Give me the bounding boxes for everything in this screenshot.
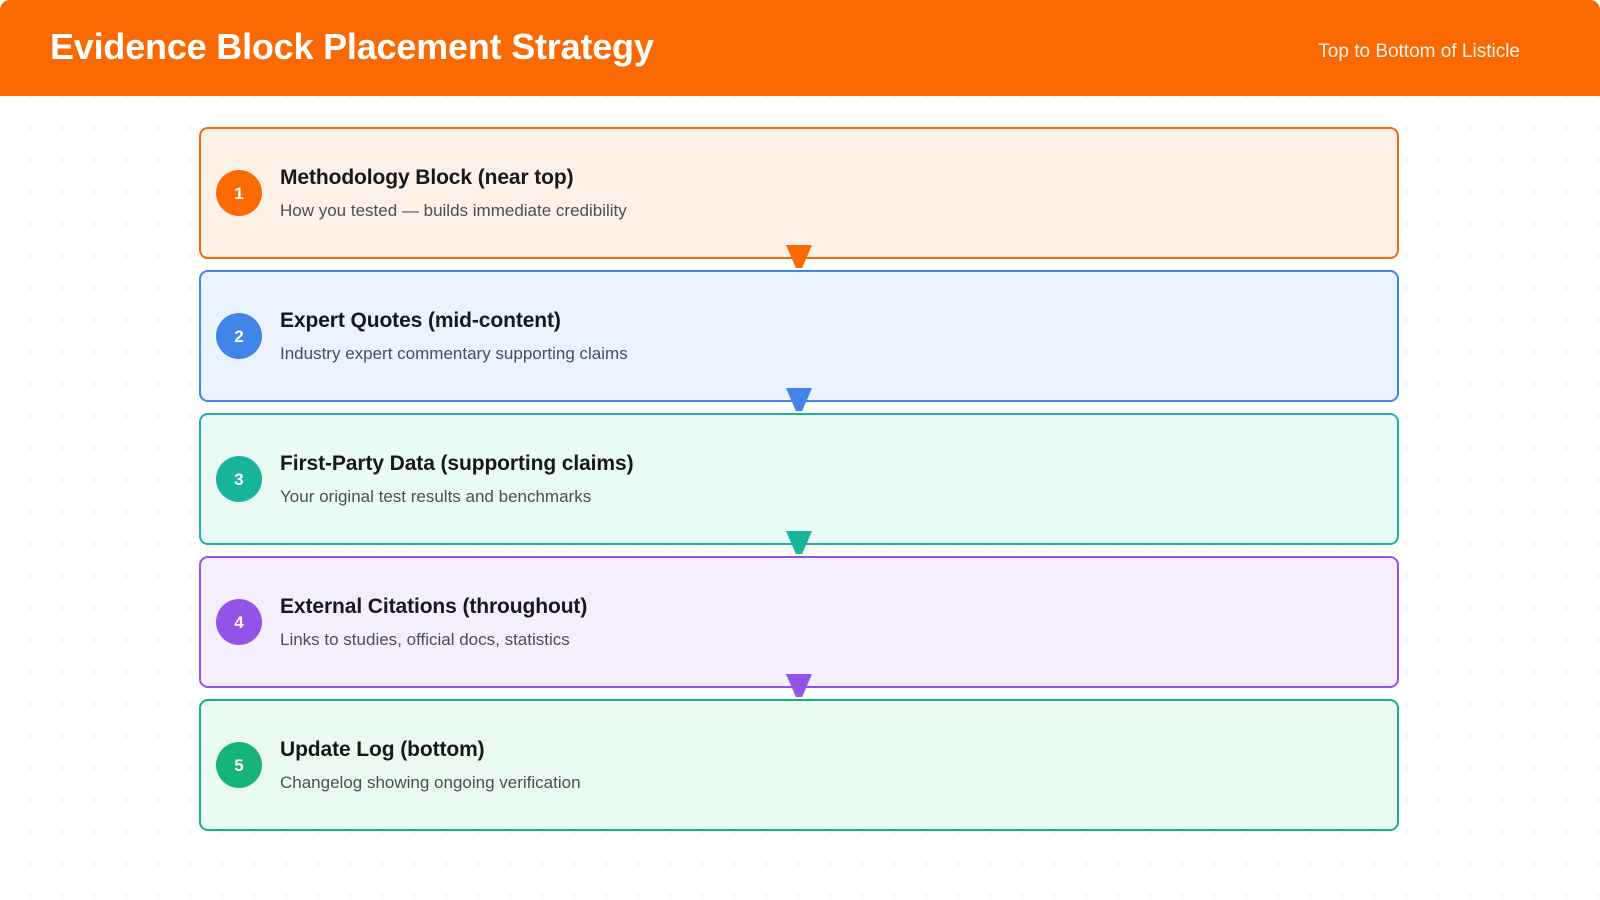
step-number-label: 5: [234, 757, 243, 774]
evidence-card-text: Methodology Block (near top)How you test…: [280, 165, 627, 221]
evidence-card-title: Methodology Block (near top): [280, 165, 627, 191]
evidence-card[interactable]: 2Expert Quotes (mid-content)Industry exp…: [199, 270, 1399, 402]
evidence-card[interactable]: 3First-Party Data (supporting claims)You…: [199, 413, 1399, 545]
flow-step: 1Methodology Block (near top)How you tes…: [199, 127, 1399, 259]
flow-step: 3First-Party Data (supporting claims)You…: [199, 413, 1399, 545]
flow-step: 5Update Log (bottom)Changelog showing on…: [199, 699, 1399, 831]
evidence-card-title: Update Log (bottom): [280, 737, 581, 763]
evidence-card-text: Update Log (bottom)Changelog showing ong…: [280, 737, 581, 793]
page-header: Evidence Block Placement Strategy Top to…: [0, 0, 1600, 96]
evidence-card[interactable]: 5Update Log (bottom)Changelog showing on…: [199, 699, 1399, 831]
evidence-card-text: External Citations (throughout)Links to …: [280, 594, 587, 650]
evidence-card-text: First-Party Data (supporting claims)Your…: [280, 451, 633, 507]
evidence-card-subtitle: Links to studies, official docs, statist…: [280, 629, 587, 650]
page-title: Evidence Block Placement Strategy: [50, 29, 654, 67]
evidence-flow-list: 1Methodology Block (near top)How you tes…: [199, 127, 1399, 831]
step-number-label: 2: [234, 328, 243, 345]
step-number-label: 4: [234, 614, 243, 631]
flow-step: 4External Citations (throughout)Links to…: [199, 556, 1399, 688]
evidence-card-title: First-Party Data (supporting claims): [280, 451, 633, 477]
flow-step: 2Expert Quotes (mid-content)Industry exp…: [199, 270, 1399, 402]
evidence-card-subtitle: How you tested — builds immediate credib…: [280, 200, 627, 221]
evidence-card[interactable]: 4External Citations (throughout)Links to…: [199, 556, 1399, 688]
evidence-card-text: Expert Quotes (mid-content)Industry expe…: [280, 308, 628, 364]
step-number-badge: 3: [216, 456, 262, 502]
step-number-badge: 5: [216, 742, 262, 788]
evidence-card-title: External Citations (throughout): [280, 594, 587, 620]
header-subtitle: Top to Bottom of Listicle: [1318, 36, 1550, 61]
step-number-badge: 4: [216, 599, 262, 645]
evidence-card-subtitle: Industry expert commentary supporting cl…: [280, 343, 628, 364]
evidence-card[interactable]: 1Methodology Block (near top)How you tes…: [199, 127, 1399, 259]
step-number-badge: 2: [216, 313, 262, 359]
step-number-label: 1: [234, 185, 243, 202]
evidence-card-subtitle: Your original test results and benchmark…: [280, 486, 633, 507]
step-number-label: 3: [234, 471, 243, 488]
evidence-card-title: Expert Quotes (mid-content): [280, 308, 628, 334]
evidence-card-subtitle: Changelog showing ongoing verification: [280, 772, 581, 793]
step-number-badge: 1: [216, 170, 262, 216]
